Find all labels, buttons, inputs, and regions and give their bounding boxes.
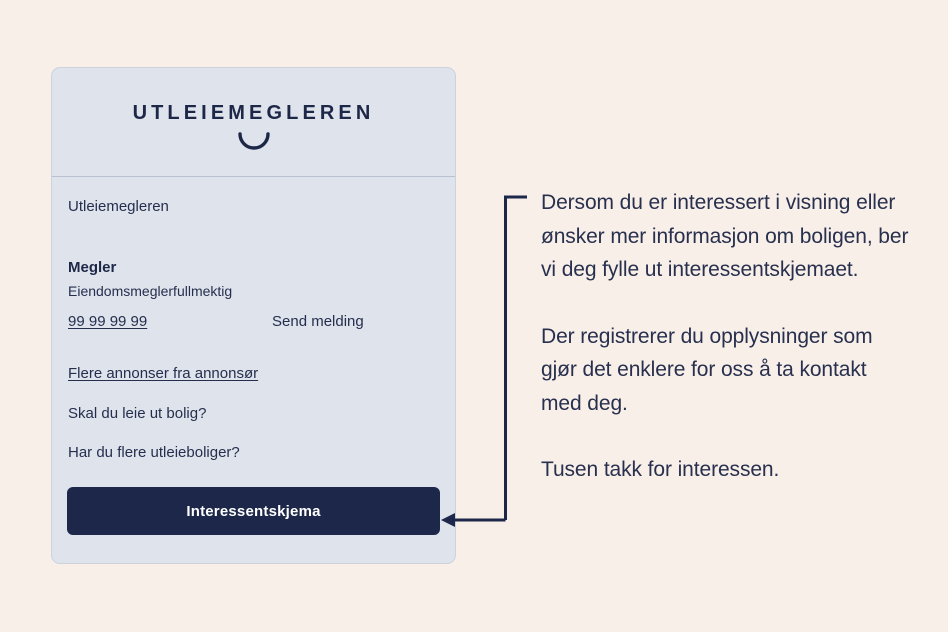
brand-logo-text: UTLEIEMEGLEREN [52, 103, 455, 123]
card-body: Utleiemegleren Megler Eiendomsmeglerfull… [52, 177, 455, 563]
agent-role-title: Megler [68, 259, 116, 277]
rent-out-property-link[interactable]: Skal du leie ut bolig? [68, 405, 206, 422]
annotation-paragraph-1: Dersom du er interessert i visning eller… [541, 186, 911, 287]
company-name: Utleiemegleren [68, 198, 169, 216]
contact-row: 99 99 99 99 Send melding [68, 313, 438, 333]
send-message-link[interactable]: Send melding [272, 313, 364, 330]
annotation-text-block: Dersom du er interessert i visning eller… [541, 186, 911, 487]
smile-arc-icon [52, 132, 455, 152]
card-header: UTLEIEMEGLEREN [52, 68, 455, 177]
multiple-rentals-link[interactable]: Har du flere utleieboliger? [68, 444, 240, 461]
agent-contact-card: UTLEIEMEGLEREN Utleiemegleren Megler Eie… [51, 67, 456, 564]
more-ads-from-advertiser-link[interactable]: Flere annonser fra annonsør [68, 365, 258, 382]
phone-number-link[interactable]: 99 99 99 99 [68, 313, 147, 330]
annotation-paragraph-2: Der registrerer du opplysninger som gjør… [541, 320, 911, 421]
interest-form-button[interactable]: Interessentskjema [67, 487, 440, 535]
agent-role-subtitle: Eiendomsmeglerfullmektig [68, 283, 232, 300]
annotation-paragraph-3: Tusen takk for interessen. [541, 453, 911, 487]
